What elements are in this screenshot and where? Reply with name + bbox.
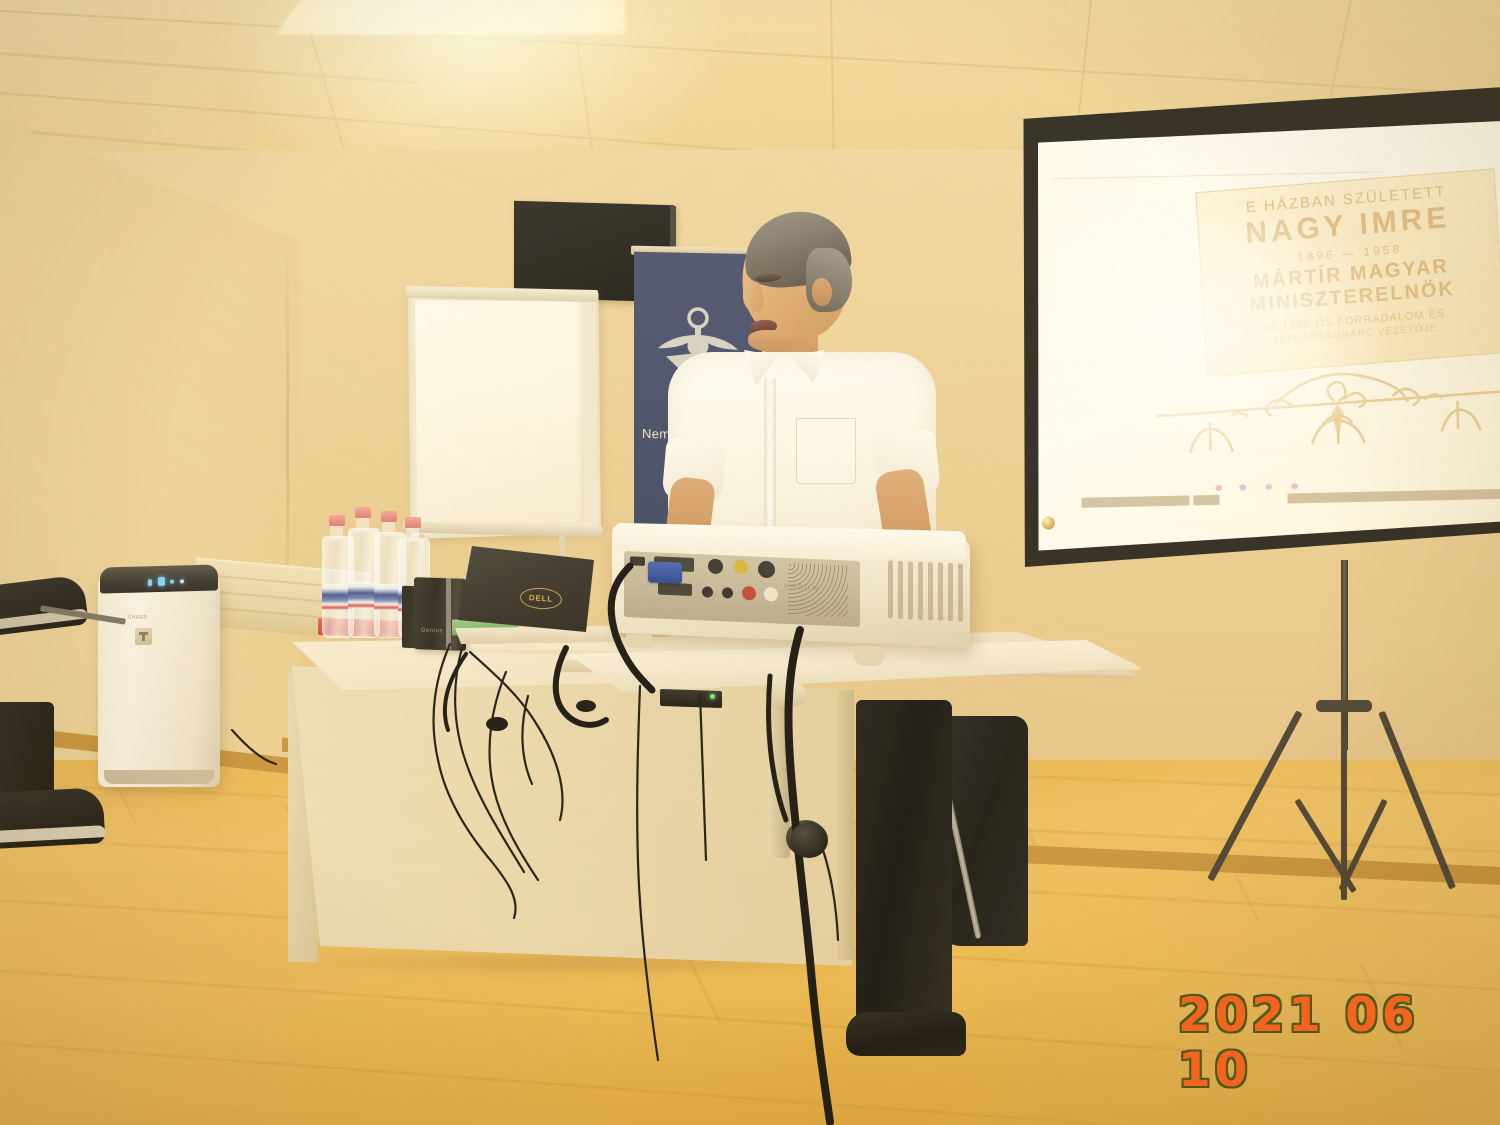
laptop-base[interactable] <box>455 626 620 644</box>
desktop-speaker <box>414 577 466 651</box>
video-rca-yellow <box>734 560 748 575</box>
presenter-chin <box>748 330 796 352</box>
desk-side-panel <box>838 690 854 960</box>
presenter-shirt-pocket <box>796 418 856 484</box>
presenter-ear <box>812 278 832 306</box>
receiver-power-led <box>710 694 715 699</box>
speaker-brand: Genius <box>421 628 443 635</box>
air-purifier-base <box>104 770 214 784</box>
shelf-post-collar <box>770 684 806 706</box>
projector-brand: EPSON <box>784 582 820 592</box>
cable-grommet <box>790 822 828 858</box>
projection-screen: E HÁZBAN SZÜLETETT NAGY IMRE 1896 — 1958… <box>1005 87 1500 577</box>
usb-port <box>630 556 645 566</box>
projector-exhaust-vent <box>886 558 966 625</box>
serial-port <box>658 582 692 595</box>
air-purifier-top-panel[interactable] <box>100 564 218 593</box>
air-purifier[interactable] <box>98 572 220 787</box>
audio-rca-white <box>764 587 778 602</box>
start-orb-icon[interactable] <box>1042 516 1055 529</box>
screen-surface: E HÁZBAN SZÜLETETT NAGY IMRE 1896 — 1958… <box>1030 121 1500 551</box>
presenter-shoe <box>846 1012 966 1056</box>
windows-taskbar[interactable] <box>1063 489 1500 510</box>
air-purifier-brand: SHARP <box>128 615 147 621</box>
flipchart-paper <box>415 300 584 525</box>
projector-foot-left <box>626 634 652 649</box>
audio-rca-red <box>742 586 756 601</box>
vga-cable-connector <box>648 561 682 583</box>
tripod-collar <box>1316 700 1372 712</box>
presenter-trousers <box>856 700 952 1030</box>
ceiling-light-panel <box>275 0 625 35</box>
screen-hotspot-glare <box>1052 213 1387 480</box>
projector-foot-right <box>854 645 884 666</box>
mini-din-port <box>758 561 775 579</box>
audio-jack-1 <box>702 586 713 597</box>
speaker-side-strip <box>446 578 451 649</box>
svideo-port <box>708 559 723 575</box>
flipchart-easel <box>408 291 601 539</box>
audio-jack-2 <box>722 587 733 598</box>
photograph-seminar-room: E HÁZBAN SZÜLETETT NAGY IMRE 1896 — 1958… <box>0 0 1500 1125</box>
air-purifier-logo-icon <box>135 628 152 645</box>
camera-date-stamp: 2021 06 10 <box>1178 988 1500 1098</box>
slide-document-top-edge <box>1052 153 1382 179</box>
presenter-hair-side <box>806 248 852 312</box>
